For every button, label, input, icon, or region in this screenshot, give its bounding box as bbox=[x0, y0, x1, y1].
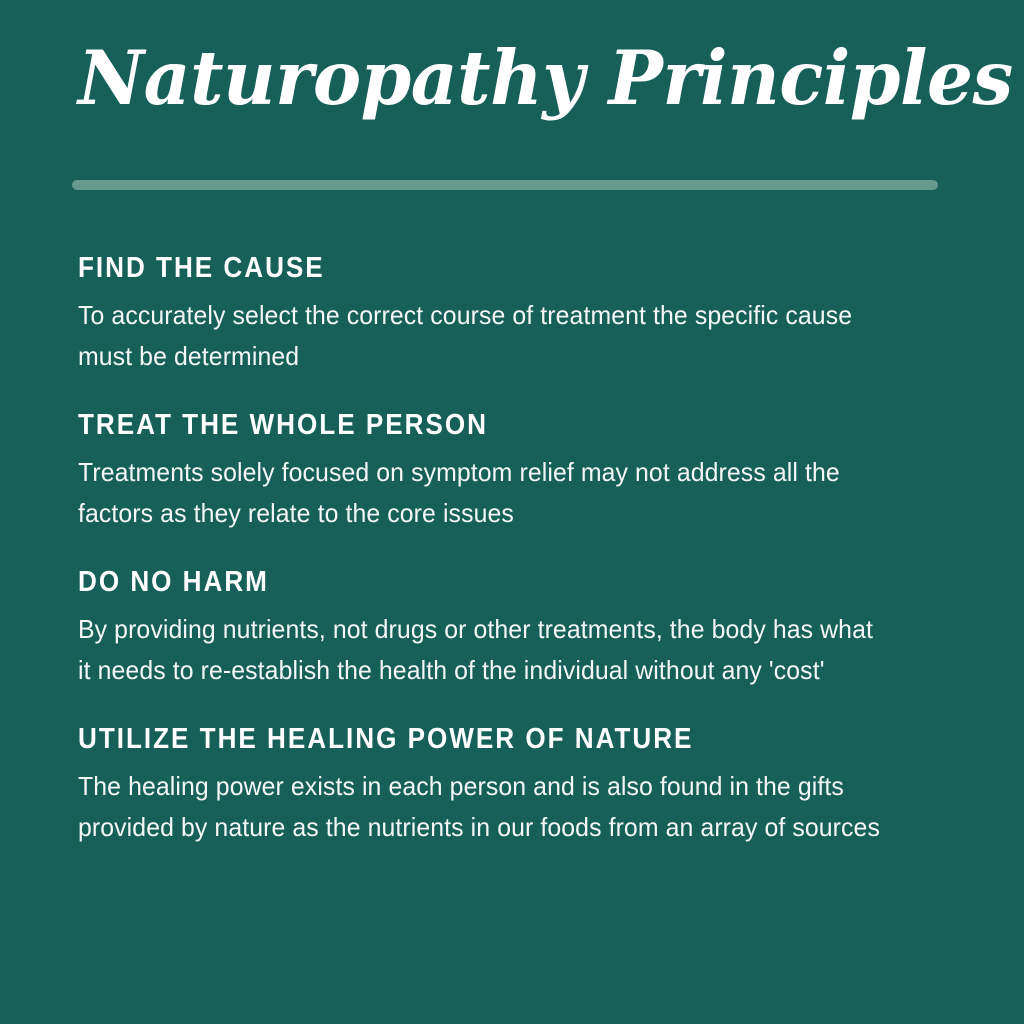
principle-body: To accurately select the correct course … bbox=[78, 295, 938, 377]
principle-body-line: must be determined bbox=[78, 336, 938, 377]
principle-body-line: it needs to re-establish the health of t… bbox=[78, 650, 938, 691]
principles-list: FIND THE CAUSE To accurately select the … bbox=[78, 254, 978, 848]
principle-body: Treatments solely focused on symptom rel… bbox=[78, 452, 938, 534]
title-divider bbox=[72, 180, 938, 190]
principle-item: TREAT THE WHOLE PERSON Treatments solely… bbox=[78, 411, 978, 534]
page-title: Naturopathy Principles bbox=[78, 38, 927, 119]
principle-body-line: The healing power exists in each person … bbox=[78, 766, 938, 807]
principle-item: FIND THE CAUSE To accurately select the … bbox=[78, 254, 978, 377]
principle-body-line: To accurately select the correct course … bbox=[78, 295, 938, 336]
divider-bar bbox=[72, 180, 938, 190]
principle-body-line: By providing nutrients, not drugs or oth… bbox=[78, 609, 938, 650]
principle-item: DO NO HARM By providing nutrients, not d… bbox=[78, 568, 978, 691]
principle-body: The healing power exists in each person … bbox=[78, 766, 938, 848]
principle-heading: DO NO HARM bbox=[78, 568, 888, 597]
principle-heading: TREAT THE WHOLE PERSON bbox=[78, 411, 888, 440]
poster-canvas: Naturopathy Principles FIND THE CAUSE To… bbox=[0, 0, 1024, 1024]
principle-body: By providing nutrients, not drugs or oth… bbox=[78, 609, 938, 691]
title-block: Naturopathy Principles bbox=[78, 38, 958, 119]
principle-item: UTILIZE THE HEALING POWER OF NATURE The … bbox=[78, 725, 978, 848]
principle-heading: FIND THE CAUSE bbox=[78, 254, 888, 283]
principle-body-line: factors as they relate to the core issue… bbox=[78, 493, 938, 534]
principle-heading: UTILIZE THE HEALING POWER OF NATURE bbox=[78, 725, 888, 754]
principle-body-line: Treatments solely focused on symptom rel… bbox=[78, 452, 938, 493]
principle-body-line: provided by nature as the nutrients in o… bbox=[78, 807, 938, 848]
